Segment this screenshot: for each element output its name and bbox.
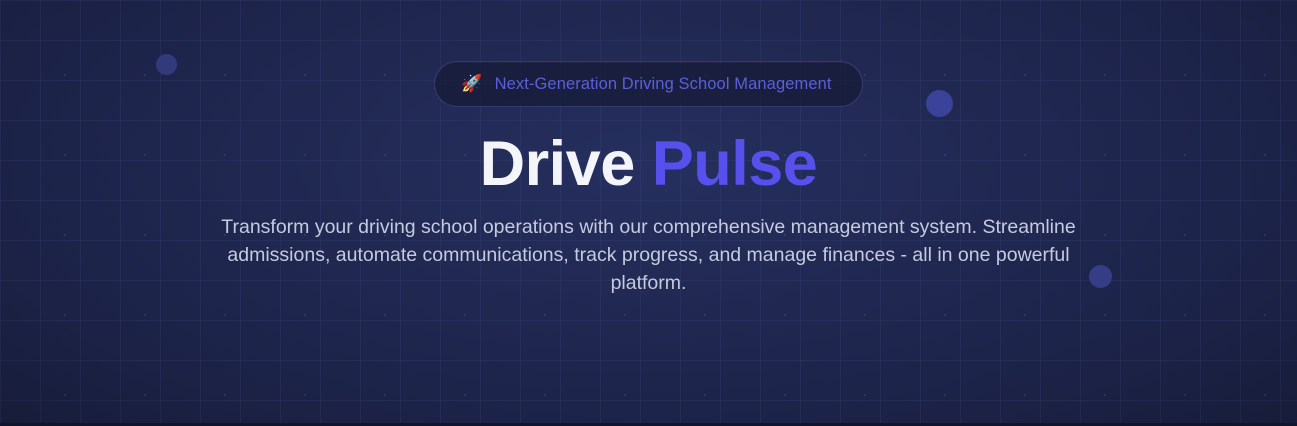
page-title-accent-word: Pulse xyxy=(652,129,818,199)
rocket-icon: 🚀 xyxy=(461,75,482,92)
hero-content: 🚀 Next-Generation Driving School Managem… xyxy=(0,0,1297,297)
hero-description: Transform your driving school operations… xyxy=(209,213,1089,297)
page-title-primary-word: Drive xyxy=(480,129,635,199)
tagline-badge-label: Next-Generation Driving School Managemen… xyxy=(495,75,832,94)
tagline-badge[interactable]: 🚀 Next-Generation Driving School Managem… xyxy=(434,61,862,107)
page-title: Drive Pulse xyxy=(480,131,818,197)
hero-section: 🚀 Next-Generation Driving School Managem… xyxy=(0,0,1297,426)
